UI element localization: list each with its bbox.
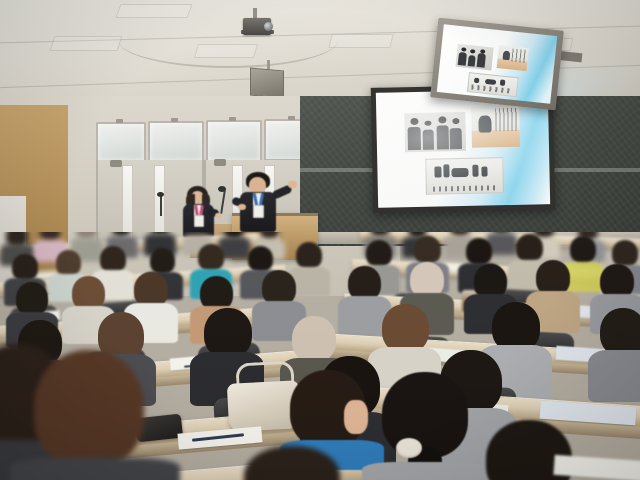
audience-area bbox=[0, 232, 640, 480]
hair-scrunchie bbox=[396, 438, 422, 458]
audience-member bbox=[34, 350, 144, 468]
microphone-secondary bbox=[160, 196, 162, 216]
repeater-monitor bbox=[430, 18, 564, 111]
presenter-badge bbox=[194, 215, 204, 227]
microphone-head-icon-2 bbox=[157, 192, 164, 197]
projector-lens-icon bbox=[264, 22, 273, 31]
lecture-hall-photo: University lecture hall presentation A c… bbox=[0, 0, 640, 480]
ceiling-seam-arc bbox=[118, 40, 338, 68]
monitor-slide-surface bbox=[437, 24, 557, 104]
slide-photo-wide bbox=[425, 157, 503, 195]
ceiling-speaker-icon bbox=[250, 68, 284, 99]
slide-photo-podium bbox=[471, 106, 520, 148]
slide-photo-group bbox=[404, 112, 467, 152]
woman-presenter bbox=[178, 186, 220, 238]
child-audience-member bbox=[372, 372, 480, 480]
man-presenter bbox=[234, 172, 296, 232]
presenter-badge-2 bbox=[253, 205, 264, 218]
